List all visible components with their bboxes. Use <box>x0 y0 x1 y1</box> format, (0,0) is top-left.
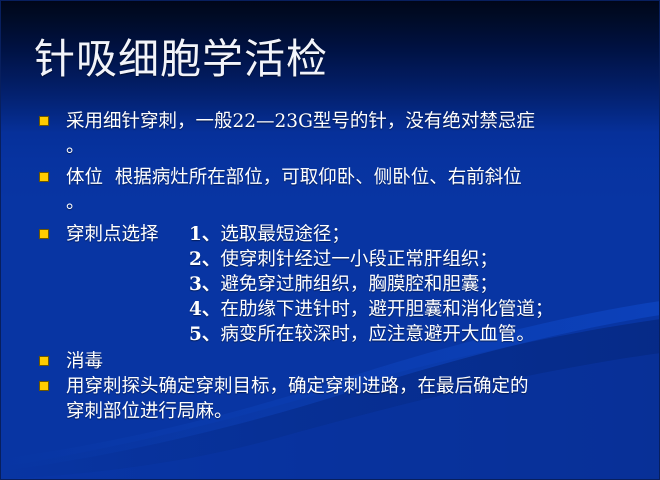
list-item: 穿刺点选择 1、选取最短途径； 2、使穿刺针经过一小段正常肝组织； 3、避免穿过… <box>31 222 643 247</box>
numbered-item: 5、病变所在较深时，应注意避开大血管。 <box>189 322 553 347</box>
slide-body: 采用细针穿刺，一般22—23G型号的针，没有绝对禁忌症 。 体位 根据病灶所在部… <box>31 109 643 424</box>
numbered-item-text: 避免穿过肺组织，胸膜腔和胆囊； <box>220 274 498 295</box>
presentation-slide: 针吸细胞学活检 采用细针穿刺，一般22—23G型号的针，没有绝对禁忌症 。 体位… <box>0 0 660 480</box>
numbered-item: 4、在肋缘下进针时，避开胆囊和消化管道； <box>189 297 553 322</box>
numbered-item-index: 2、 <box>189 249 220 270</box>
numbered-item-text: 在肋缘下进针时，避开胆囊和消化管道； <box>220 299 553 320</box>
numbered-item: 2、使穿刺针经过一小段正常肝组织； <box>189 247 553 272</box>
list-item-text-wrap: 。 <box>66 134 643 159</box>
numbered-item-index: 5、 <box>189 324 220 345</box>
numbered-item-index: 3、 <box>189 274 220 295</box>
list-item-text: 用穿刺探头确定穿刺目标，确定穿刺进路，在最后确定的 <box>66 374 643 399</box>
numbered-item-index: 4、 <box>189 299 220 320</box>
numbered-item: 1、选取最短途径； <box>189 222 553 247</box>
list-item: 体位 根据病灶所在部位，可取仰卧、侧卧位、右前斜位 。 <box>31 165 643 215</box>
square-bullet-icon <box>39 172 49 182</box>
list-item-text: 消毒 <box>66 349 643 374</box>
list-item: 消毒 <box>31 349 643 374</box>
list-item-text: 穿刺点选择 <box>66 222 159 247</box>
numbered-item-index: 1、 <box>189 224 220 245</box>
square-bullet-icon <box>39 229 49 239</box>
numbered-item-text: 病变所在较深时，应注意避开大血管。 <box>220 324 535 345</box>
list-item: 用穿刺探头确定穿刺目标，确定穿刺进路，在最后确定的 穿刺部位进行局麻。 <box>31 374 643 424</box>
list-item-text: 体位 根据病灶所在部位，可取仰卧、侧卧位、右前斜位 <box>66 165 643 190</box>
numbered-item-text: 使穿刺针经过一小段正常肝组织； <box>220 249 498 270</box>
numbered-item: 3、避免穿过肺组织，胸膜腔和胆囊； <box>189 272 553 297</box>
list-item: 采用细针穿刺，一般22—23G型号的针，没有绝对禁忌症 。 <box>31 109 643 159</box>
page-title: 针吸细胞学活检 <box>34 34 328 84</box>
list-item-text: 采用细针穿刺，一般22—23G型号的针，没有绝对禁忌症 <box>66 109 643 134</box>
square-bullet-icon <box>39 356 49 366</box>
square-bullet-icon <box>39 116 49 126</box>
numbered-item-text: 选取最短途径； <box>220 224 350 245</box>
list-item-text-wrap: 。 <box>66 190 643 215</box>
square-bullet-icon <box>39 381 49 391</box>
numbered-sublist: 1、选取最短途径； 2、使穿刺针经过一小段正常肝组织； 3、避免穿过肺组织，胸膜… <box>189 222 553 347</box>
list-item-text-wrap: 穿刺部位进行局麻。 <box>66 399 643 424</box>
